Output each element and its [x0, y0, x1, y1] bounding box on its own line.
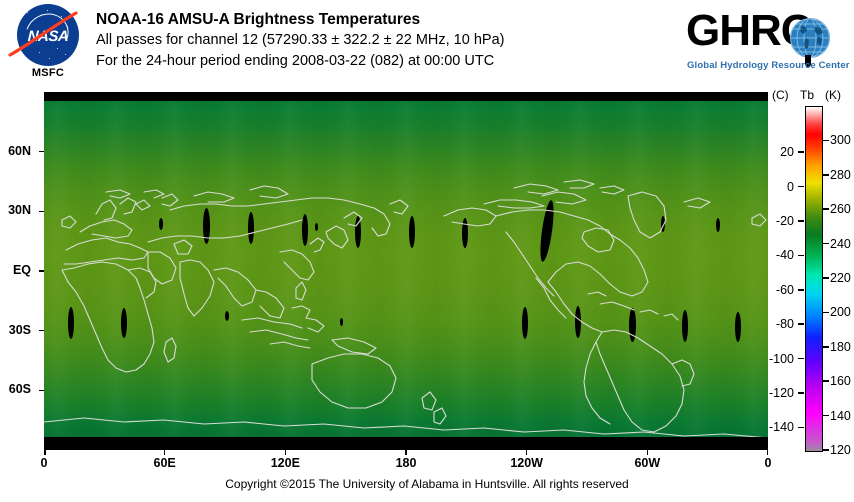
longitude-tick: [526, 450, 528, 455]
longitude-label: 180: [396, 456, 417, 470]
longitude-tick: [164, 450, 166, 455]
colorbar-kelvin-tick: [823, 346, 829, 348]
colorbar-celsius-tick: [798, 323, 804, 325]
colorbar-celsius-tick: [798, 392, 804, 394]
colorbar-celsius-tick-label: 0: [787, 180, 794, 194]
colorbar-celsius-tick-label: 20: [780, 145, 794, 159]
latitude-label: 30N: [8, 203, 31, 217]
longitude-label: 60E: [154, 456, 176, 470]
nasa-center-label: MSFC: [10, 67, 86, 79]
latitude-label: 60S: [9, 382, 31, 396]
colorbar-celsius-tick-label: -100: [769, 352, 794, 366]
latitude-label: EQ: [13, 263, 31, 277]
colorbar-kelvin-tick: [823, 174, 829, 176]
colorbar-kelvin-tick-label: 160: [830, 374, 851, 388]
longitude-tick: [44, 450, 46, 455]
page-subtitle-period: For the 24-hour period ending 2008-03-22…: [96, 51, 676, 72]
north-polar-nodata-band: [44, 92, 768, 101]
colorbar-gradient[interactable]: [805, 106, 823, 452]
colorbar-kelvin-tick: [823, 380, 829, 382]
copyright-notice: Copyright ©2015 The University of Alabam…: [0, 477, 854, 491]
colorbar-quantity-label: Tb: [800, 88, 814, 102]
colorbar-kelvin-tick-label: 180: [830, 340, 851, 354]
colorbar-kelvin-tick: [823, 312, 829, 314]
longitude-tick: [767, 450, 769, 455]
longitude-tick: [285, 450, 287, 455]
colorbar-kelvin-tick-label: 120: [830, 443, 851, 457]
colorbar-kelvin-tick: [823, 140, 829, 142]
colorbar-celsius-tick: [798, 186, 804, 188]
longitude-tick: [405, 450, 407, 455]
colorbar-kelvin-tick: [823, 243, 829, 245]
colorbar-celsius-tick-label: -60: [776, 283, 794, 297]
coastline-overlay: [44, 92, 768, 450]
colorbar-celsius-tick-label: -80: [776, 317, 794, 331]
latitude-tick: [39, 390, 44, 392]
colorbar-kelvin-tick: [823, 415, 829, 417]
map-plot-area[interactable]: [44, 92, 768, 450]
south-polar-nodata-band: [44, 437, 768, 450]
latitude-label: 30S: [9, 323, 31, 337]
page-title: NOAA-16 AMSU-A Brightness Temperatures: [96, 9, 676, 30]
colorbar-celsius-tick: [798, 358, 804, 360]
colorbar-kelvin-tick: [823, 208, 829, 210]
longitude-axis: 060E120E180120W60W0: [44, 450, 768, 476]
longitude-label: 60W: [634, 456, 660, 470]
longitude-label: 120W: [510, 456, 543, 470]
colorbar-kelvin-tick: [823, 277, 829, 279]
latitude-tick: [39, 330, 44, 332]
title-block: NOAA-16 AMSU-A Brightness Temperatures A…: [96, 9, 676, 72]
colorbar-kelvin-tick-label: 280: [830, 168, 851, 182]
colorbar-kelvin-tick-label: 140: [830, 409, 851, 423]
colorbar-celsius-tick-label: -120: [769, 386, 794, 400]
page-subtitle-channel: All passes for channel 12 (57290.33 ± 32…: [96, 30, 676, 51]
latitude-tick: [39, 270, 44, 272]
colorbar-kelvin-tick-label: 200: [830, 305, 851, 319]
longitude-label: 0: [41, 456, 48, 470]
colorbar-celsius-tick: [798, 220, 804, 222]
header: NASA MSFC NOAA-16 AMSU-A Brightness Temp…: [0, 0, 854, 88]
colorbar-celsius-tick-label: -40: [776, 248, 794, 262]
colorbar-kelvin-tick-label: 260: [830, 202, 851, 216]
latitude-tick: [39, 151, 44, 153]
colorbar-celsius-tick-label: -140: [769, 420, 794, 434]
colorbar-celsius-tick: [798, 289, 804, 291]
colorbar-kelvin-tick: [823, 449, 829, 451]
colorbar-kelvin-tick-label: 240: [830, 237, 851, 251]
colorbar-celsius-tick-label: -20: [776, 214, 794, 228]
colorbar-kelvin-tick-label: 220: [830, 271, 851, 285]
latitude-axis: 60N30NEQ30S60S: [0, 92, 39, 450]
nasa-swoosh-icon: [8, 11, 80, 59]
colorbar-celsius-unit: (C): [772, 88, 789, 102]
colorbar-kelvin-unit: (K): [825, 88, 841, 102]
colorbar-celsius-tick: [798, 255, 804, 257]
longitude-label: 0: [765, 456, 772, 470]
ghrc-logo: GHRC Global Hydrology: [686, 8, 846, 80]
colorbar-celsius-tick: [798, 151, 804, 153]
nasa-logo: NASA MSFC: [10, 4, 86, 84]
latitude-tick: [39, 211, 44, 213]
longitude-tick: [647, 450, 649, 455]
ghrc-tagline: Global Hydrology Resource Center: [687, 60, 850, 71]
latitude-label: 60N: [8, 144, 31, 158]
colorbar-kelvin-tick-label: 300: [830, 133, 851, 147]
colorbar-celsius-tick: [798, 427, 804, 429]
longitude-label: 120E: [271, 456, 300, 470]
globe-icon: [790, 18, 830, 58]
